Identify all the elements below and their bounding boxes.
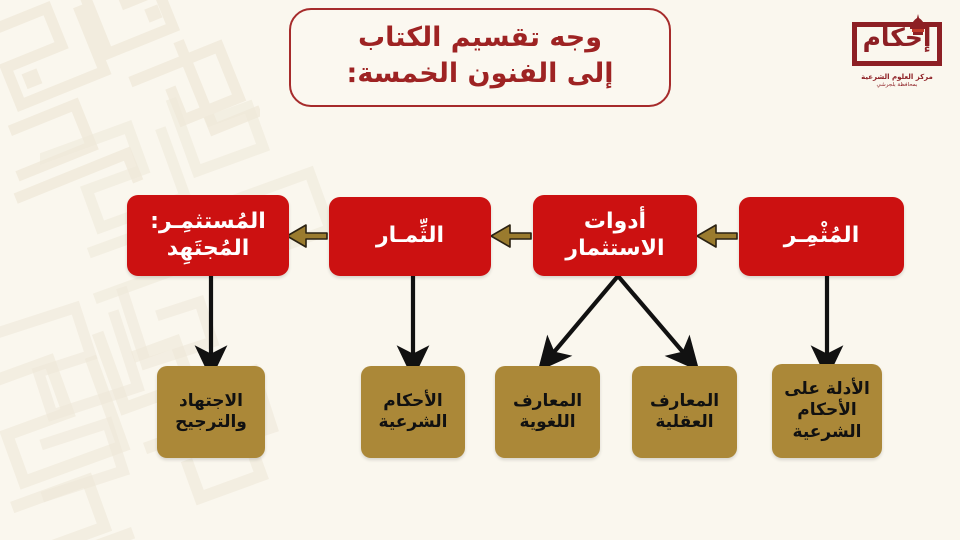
node-thimar-label: الثِّمـار [370,223,450,250]
page-title-line-1: وجه تقسيم الكتاب [309,20,651,56]
node-thimar[interactable]: الثِّمـار [329,197,491,276]
node-maarif-aqliyya[interactable]: المعارف العقلية [632,366,737,458]
node-maarif-aqliyya-label: المعارف العقلية [644,391,725,434]
node-muthmir-label: المُثْمِـر [778,223,866,250]
chain-arrow-adawat-to-thimar [491,225,531,247]
node-ahkam-shariyya-label: الأحكام الشرعية [373,391,454,434]
node-ijtihad-line-2: والترجيح [175,412,247,433]
kufic-pattern-watermark-top [0,0,260,210]
node-ijtihad-line-1: الاجتهاد [175,391,247,412]
page-title-line-2: إلى الفنون الخمسة: [309,56,651,92]
node-adawat-line-1: أدوات [565,209,664,236]
node-adilla-line-2: الأحكام [784,400,870,421]
node-ijtihad-wa-tarjih-label: الاجتهاد والترجيح [169,391,253,434]
logo-subtitle-secondary: بمحافظة بلجرشي [846,82,948,90]
branch-arrow-adawat-to-aqliyya [618,276,688,358]
branch-arrow-adawat-to-lughawiyya [549,276,618,358]
page-title: وجه تقسيم الكتاب إلى الفنون الخمسة: [289,8,671,107]
node-ahkam-shariyya[interactable]: الأحكام الشرعية [361,366,465,458]
node-lughawiyya-line-2: اللغوية [513,412,582,433]
node-lughawiyya-line-1: المعارف [513,391,582,412]
node-mustathmir[interactable]: المُستثمِـر: المُجتَهِد [127,195,289,276]
node-adilla-line-1: الأدلة على [784,379,870,400]
logo-subtitle: مركز العلوم الشرعية [846,72,948,82]
node-adawat-al-istithmar[interactable]: أدوات الاستثمار [533,195,697,276]
node-adilla-ala-ahkam[interactable]: الأدلة على الأحكام الشرعية [772,364,882,458]
node-mustathmir-label: المُستثمِـر: المُجتَهِد [144,209,272,263]
logo-wordmark: إحكام [848,25,946,50]
logo-mark: إحكام [848,14,946,70]
node-mustathmir-line-2: المُجتَهِد [150,236,266,263]
node-adilla-line-3: الشرعية [784,422,870,443]
node-adawat-line-2: الاستثمار [565,236,664,263]
node-mustathmir-line-1: المُستثمِـر: [150,209,266,236]
node-maarif-lughawiyya-label: المعارف اللغوية [507,391,588,434]
node-ijtihad-wa-tarjih[interactable]: الاجتهاد والترجيح [157,366,265,458]
chain-arrow-muthmir-to-adawat [697,225,737,247]
node-muthmir[interactable]: المُثْمِـر [739,197,904,276]
node-adilla-ala-ahkam-label: الأدلة على الأحكام الشرعية [778,379,876,443]
mosque-dome-icon [906,14,930,36]
node-aqliyya-line-2: العقلية [650,412,719,433]
node-maarif-lughawiyya[interactable]: المعارف اللغوية [495,366,600,458]
slide-canvas: وجه تقسيم الكتاب إلى الفنون الخمسة: إحكا… [0,0,960,540]
brand-logo: إحكام مركز العلوم الشرعية بمحافظة بلجرشي [846,14,948,100]
chain-arrow-thimar-to-mustathmir [287,225,327,247]
node-ahkam-line-1: الأحكام [379,391,448,412]
node-adawat-al-istithmar-label: أدوات الاستثمار [559,209,670,263]
node-aqliyya-line-1: المعارف [650,391,719,412]
node-ahkam-line-2: الشرعية [379,412,448,433]
